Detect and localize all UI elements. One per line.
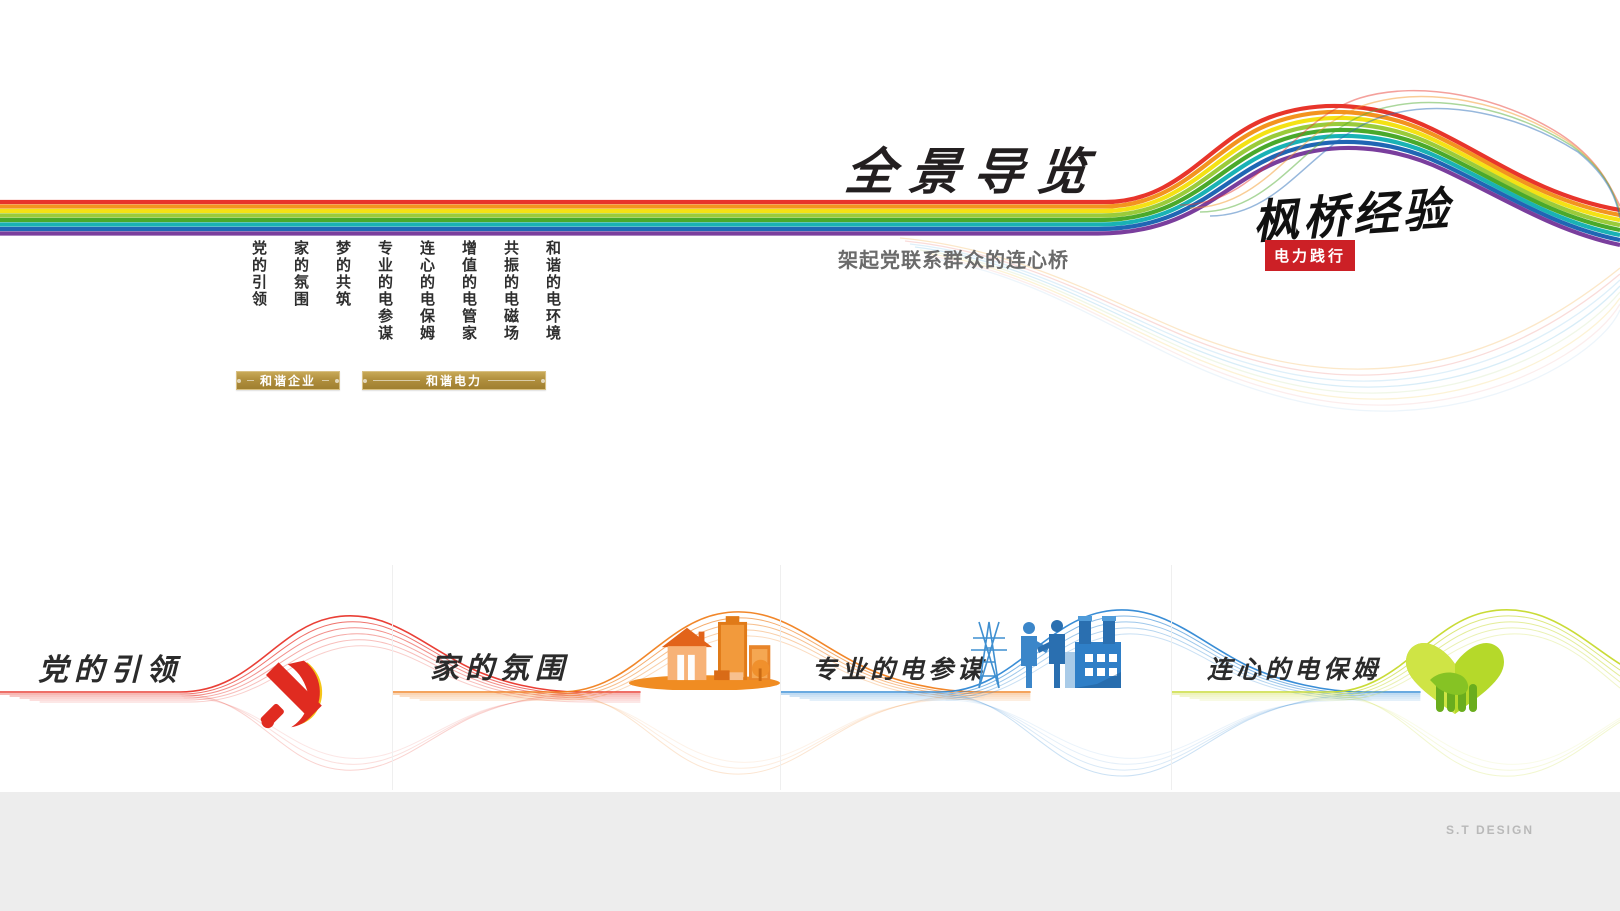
house-icon [625,612,780,690]
banner-rule [373,380,420,381]
keyword-column-group: 党的引领 家的氛围 梦的共筑 专业的电参谋 连心的电保姆 增值的电管家 共振的电… [228,240,564,342]
keyword-column: 连心的电保姆 [396,240,438,342]
page-subtitle: 架起党联系群众的连心桥 [838,244,1138,273]
keyword-column: 梦的共筑 [312,240,354,342]
bottom-section-label-party: 党的引领 [38,645,182,689]
keyword-column: 专业的电参谋 [354,240,396,342]
gold-banner-power: 和谐电力 [362,371,546,390]
section-divider [780,565,781,790]
bottom-section-label-home: 家的氛围 [430,645,570,687]
banner-dot-icon [335,379,339,383]
gold-banner-label: 和谐企业 [260,372,316,389]
banner-dot-icon [363,379,367,383]
footer-credit: S.T DESIGN [1446,823,1534,837]
hands-heart-icon [1400,636,1510,718]
brand-logo: 枫桥经验 电力践行 [1253,178,1493,290]
keyword-column: 和谐的电环境 [522,240,564,342]
banner-dot-icon [237,379,241,383]
keyword-column: 共振的电磁场 [480,240,522,342]
poster-canvas: 全景导览 架起党联系群众的连心桥 枫桥经验 电力践行 党的引领 家的氛围 梦的共… [0,0,1620,911]
keyword-column: 党的引领 [228,240,270,342]
gold-banner-enterprise: 和谐企业 [236,371,340,390]
gold-banner-label: 和谐电力 [426,372,482,389]
banner-dot-icon [541,379,545,383]
banner-rule [488,380,535,381]
logo-seal-stamp: 电力践行 [1265,240,1355,271]
banner-rule [247,380,254,381]
section-divider [392,565,393,790]
section-divider [1171,565,1172,790]
footer-bar [0,792,1620,911]
bottom-section-label-advisor: 专业的电参谋 [812,650,986,686]
party-emblem-icon [248,648,338,738]
power-plant-icon [965,612,1125,692]
banner-rule [322,380,329,381]
keyword-column: 增值的电管家 [438,240,480,342]
keyword-column: 家的氛围 [270,240,312,342]
bottom-section-label-caretaker: 连心的电保姆 [1207,650,1381,686]
page-title: 全景导览 [842,132,1119,202]
